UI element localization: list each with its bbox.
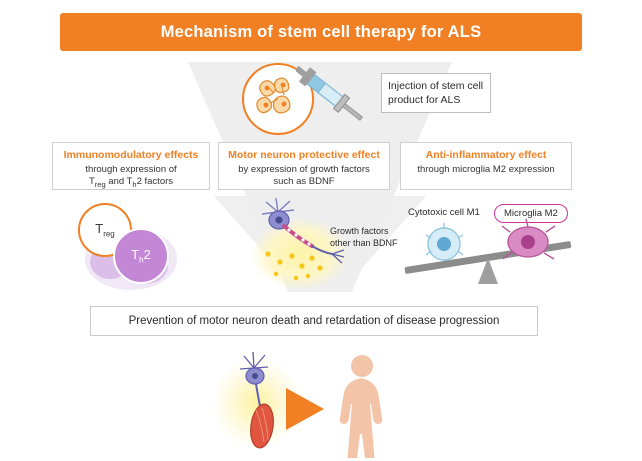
page-title: Mechanism of stem cell therapy for ALS — [161, 23, 482, 42]
cytotoxic-cell-label: Cytotoxic cell M1 — [408, 207, 480, 218]
th2-tail: 2 factors — [137, 176, 173, 187]
effect-title-immunomodulatory: Immunomodulatory effects — [53, 149, 209, 162]
effect-sub-motor-neuron-1: by expression of growth factors — [219, 164, 389, 176]
syringe-icon — [296, 60, 376, 138]
prevention-text: Prevention of motor neuron death and ret… — [129, 315, 500, 327]
page-title-bar: Mechanism of stem cell therapy for ALS — [60, 13, 582, 51]
effect-sub-anti-inflammatory: through microglia M2 expression — [401, 164, 571, 176]
injection-label: Injection of stem cell product for ALS — [381, 73, 491, 113]
th2-cell-label: Th2 — [131, 247, 151, 265]
effect-box-motor-neuron: Motor neuron protective effect by expres… — [218, 142, 390, 190]
effect-title-motor-neuron: Motor neuron protective effect — [219, 149, 389, 162]
treg-cell-label: Treg — [95, 221, 115, 239]
effect-sub-motor-neuron-2: such as BDNF — [219, 176, 389, 188]
effect-box-immunomodulatory: Immunomodulatory effects through express… — [52, 142, 210, 190]
effect-box-anti-inflammatory: Anti-inflammatory effect through microgl… — [400, 142, 572, 190]
th2-t: and T — [106, 176, 133, 187]
treg-sub: reg — [95, 180, 106, 189]
effect-sub-immunomodulatory: through expression of Treg and Th2 facto… — [53, 164, 209, 191]
treg-cell-subscript: reg — [103, 230, 115, 239]
th2-cell-letter: T — [131, 247, 139, 262]
treg-cell-letter: T — [95, 221, 103, 236]
effect-sub-line1: through expression of — [85, 164, 176, 175]
effect-title-anti-inflammatory: Anti-inflammatory effect — [401, 149, 571, 162]
seesaw-icon — [398, 218, 578, 290]
th2-cell: Th2 — [113, 228, 169, 284]
prevention-box: Prevention of motor neuron death and ret… — [90, 306, 538, 336]
human-body-icon — [322, 352, 402, 458]
growth-factor-note-line1: Growth factors — [330, 226, 389, 236]
th2-cell-number: 2 — [144, 247, 151, 262]
diagram-root: Mechanism of stem cell therapy for ALS — [0, 0, 642, 461]
growth-factor-note-line2: other than BDNF — [330, 238, 398, 248]
arrow-right-icon — [286, 388, 324, 430]
